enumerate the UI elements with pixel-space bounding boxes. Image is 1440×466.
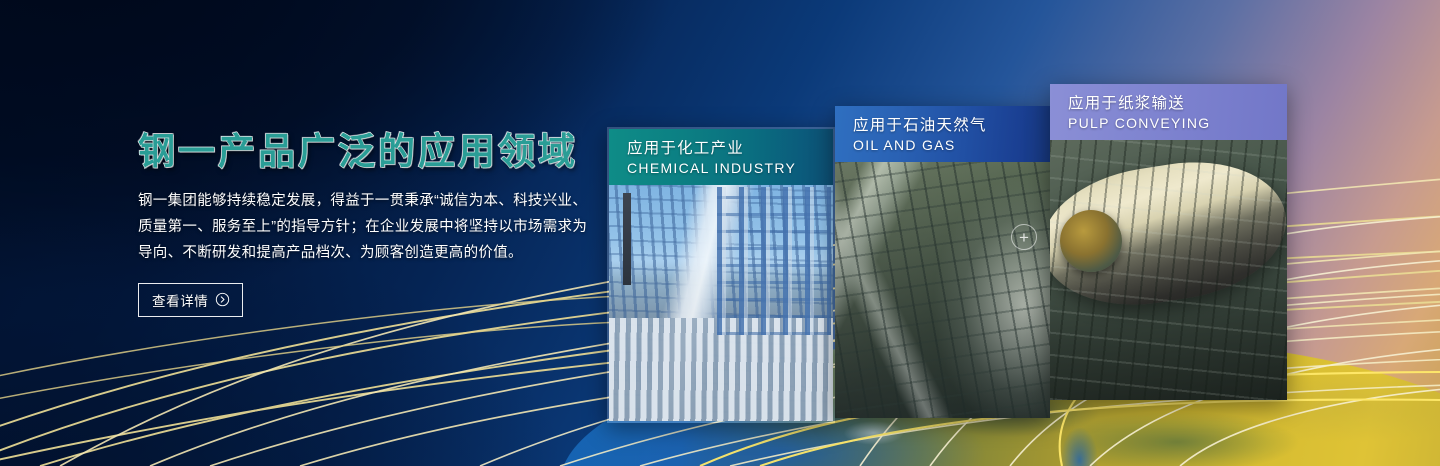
card-photo-oilgas xyxy=(835,162,1050,418)
view-details-button[interactable]: 查看详情 xyxy=(138,283,243,317)
application-card-pulp[interactable]: 应用于纸浆输送 PULP CONVEYING xyxy=(1050,84,1287,400)
card-title-en: PULP CONVEYING xyxy=(1068,114,1287,133)
page-title: 钢一产品广泛的应用领域 xyxy=(138,132,608,172)
plus-glyph: + xyxy=(1019,229,1029,246)
banner-copy-block: 钢一产品广泛的应用领域 钢一集团能够持续稳定发展，得益于一贯秉承“诚信为本、科技… xyxy=(138,132,608,317)
chemical-smokestack xyxy=(623,193,631,285)
card-photo-chemical xyxy=(609,185,833,423)
card-header-pulp: 应用于纸浆输送 PULP CONVEYING xyxy=(1050,84,1287,140)
oil-gas-refinery-photo xyxy=(835,162,1050,418)
card-title-cn: 应用于石油天然气 xyxy=(853,115,1050,136)
card-title-cn: 应用于化工产业 xyxy=(627,138,833,159)
view-details-label: 查看详情 xyxy=(152,290,208,310)
card-photo-pulp xyxy=(1050,140,1287,400)
chemical-towers xyxy=(717,187,831,335)
application-card-chemical[interactable]: 应用于化工产业 CHEMICAL INDUSTRY xyxy=(607,127,835,423)
plus-circle-icon[interactable]: + xyxy=(1011,224,1037,250)
chevron-right-circle-icon xyxy=(215,292,230,307)
card-header-oilgas: 应用于石油天然气 OIL AND GAS xyxy=(835,106,1050,162)
card-title-cn: 应用于纸浆输送 xyxy=(1068,93,1287,114)
card-header-chemical: 应用于化工产业 CHEMICAL INDUSTRY xyxy=(609,129,833,185)
pulp-roller-hub xyxy=(1060,210,1122,272)
application-card-oilgas[interactable]: 应用于石油天然气 OIL AND GAS + xyxy=(835,106,1050,418)
banner-description: 钢一集团能够持续稳定发展，得益于一贯秉承“诚信为本、科技兴业、质量第一、服务至上… xyxy=(138,188,593,266)
card-title-en: CHEMICAL INDUSTRY xyxy=(627,159,833,178)
card-title-en: OIL AND GAS xyxy=(853,136,1050,155)
hero-banner: 钢一产品广泛的应用领域 钢一集团能够持续稳定发展，得益于一贯秉承“诚信为本、科技… xyxy=(0,0,1440,466)
